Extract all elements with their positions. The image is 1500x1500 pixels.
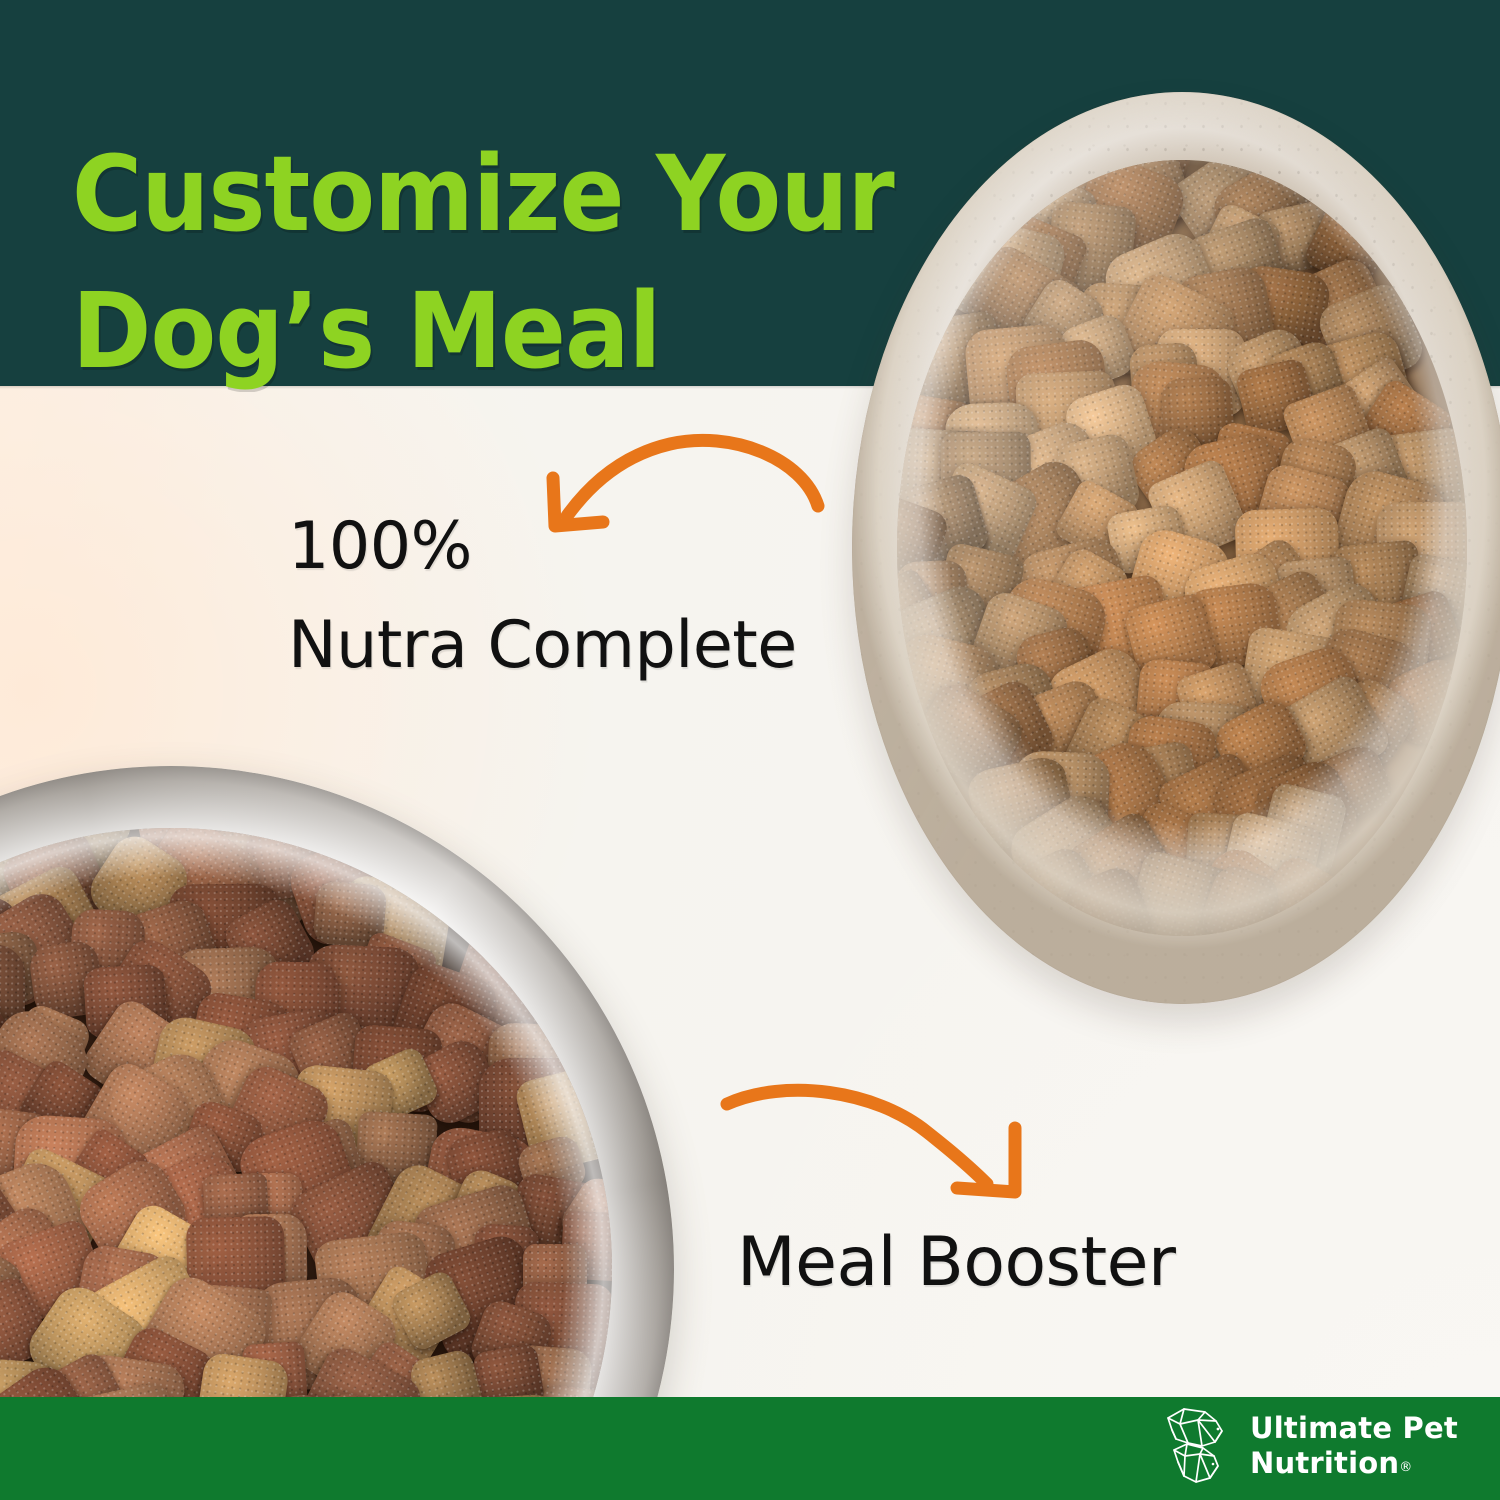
arrow-meal-booster-icon xyxy=(715,1070,1045,1220)
ad-creative-canvas: Customize Your Dog’s Meal 100% Nutra Com… xyxy=(0,0,1500,1500)
ceramic-bowl xyxy=(852,92,1500,1004)
brand-lockup: Ultimate PetNutrition® xyxy=(1158,1404,1458,1488)
brand-line-2: Nutrition xyxy=(1250,1446,1399,1480)
callout-meal-booster: Meal Booster xyxy=(737,1222,1175,1304)
ceramic-bowl-rim xyxy=(852,92,1500,1004)
brand-name: Ultimate PetNutrition® xyxy=(1250,1411,1458,1481)
registered-trademark: ® xyxy=(1399,1460,1412,1475)
callout-nutra-complete: 100% Nutra Complete xyxy=(288,498,797,696)
dog-cat-geometric-logo-icon xyxy=(1158,1404,1232,1488)
brand-line-1: Ultimate Pet xyxy=(1250,1411,1458,1445)
page-title: Customize Your Dog’s Meal xyxy=(72,126,900,401)
